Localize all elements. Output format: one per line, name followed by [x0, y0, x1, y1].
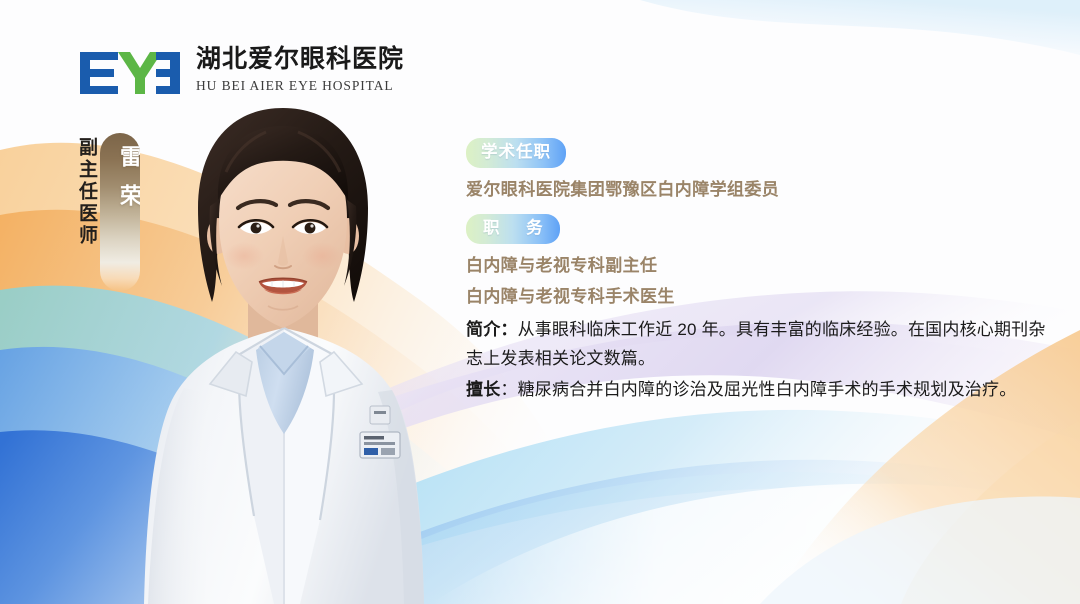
doctor-info-panel: 学术任职 爱尔眼科医院集团鄂豫区白内障学组委员 职 务 白内障与老视专科副主任 …	[466, 138, 1066, 405]
specialty-paragraph: 擅长：糖尿病合并白内障的诊治及屈光性白内障手术的手术规划及治疗。	[466, 376, 1051, 405]
duty-item: 白内障与老视专科副主任	[466, 253, 1066, 279]
doctor-name-badge: 雷荣	[100, 133, 140, 291]
doctor-portrait-photo	[88, 96, 478, 604]
logo-wordmark-text: 湖北爱尔眼科医院 HU BEI AIER EYE HOSPITAL	[196, 46, 404, 96]
biography-label: 简介：	[466, 320, 518, 339]
hospital-name-cn: 湖北爱尔眼科医院	[196, 46, 404, 75]
duty-list: 白内障与老视专科副主任 白内障与老视专科手术医生	[466, 253, 1066, 311]
doctor-name-text: 雷荣	[100, 145, 140, 223]
doctor-name-group: 副主任医师 雷荣	[76, 133, 140, 291]
biography-paragraph: 简介：从事眼科临床工作近 20 年。具有丰富的临床经验。在国内核心期刊杂志上发表…	[466, 316, 1051, 374]
specialty-text: ：糖尿病合并白内障的诊治及屈光性白内障手术的手术规划及治疗。	[500, 380, 1016, 399]
duty-label: 职 务	[466, 214, 560, 244]
academic-appointment-value: 爱尔眼科医院集团鄂豫区白内障学组委员	[466, 177, 1066, 203]
doctor-profile-card: 湖北爱尔眼科医院 HU BEI AIER EYE HOSPITAL	[0, 0, 1080, 604]
doctor-title-vertical: 副主任医师	[76, 133, 96, 285]
hospital-name-en: HU BEI AIER EYE HOSPITAL	[196, 78, 404, 94]
biography-text: 从事眼科临床工作近 20 年。具有丰富的临床经验。在国内核心期刊杂志上发表相关论…	[466, 320, 1046, 368]
specialty-label: 擅长	[466, 380, 500, 399]
eye-wordmark-icon	[78, 50, 182, 96]
academic-appointment-label: 学术任职	[466, 138, 566, 168]
hospital-logo: 湖北爱尔眼科医院 HU BEI AIER EYE HOSPITAL	[78, 46, 404, 96]
duty-item: 白内障与老视专科手术医生	[466, 284, 1066, 310]
